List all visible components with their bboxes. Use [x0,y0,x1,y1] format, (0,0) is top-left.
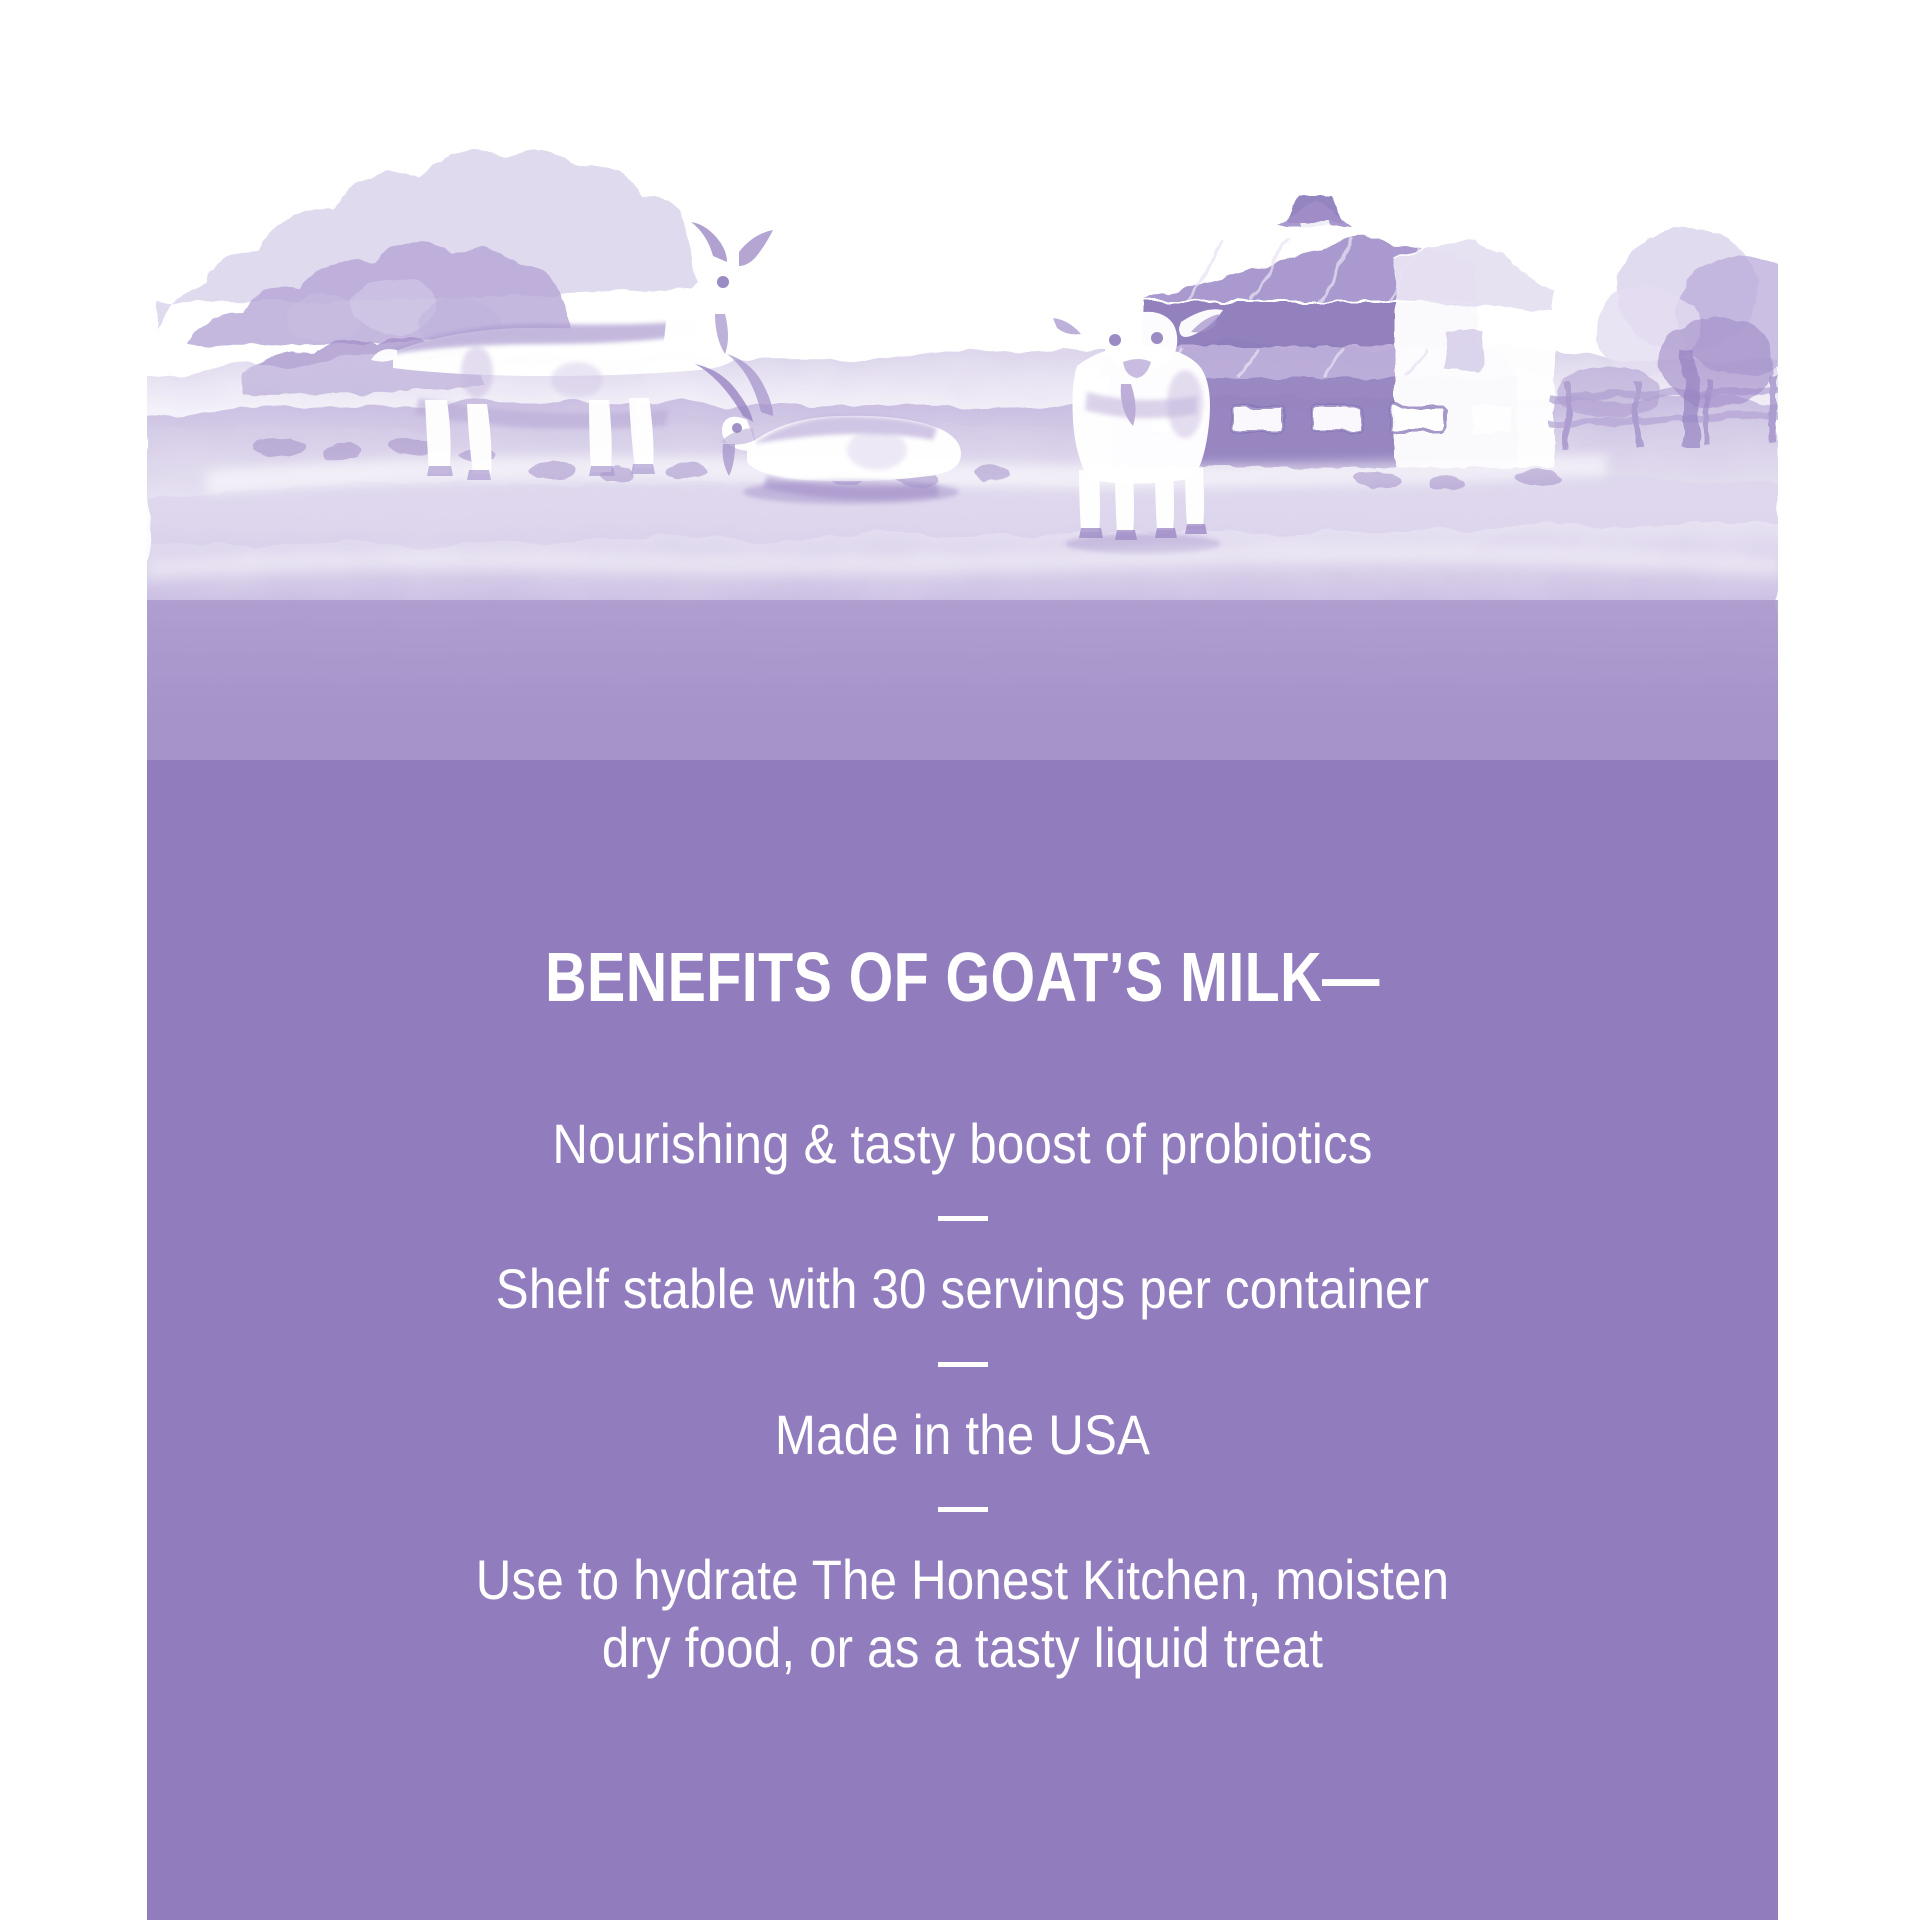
benefit-divider-2 [938,1362,988,1367]
benefits-panel: BENEFITS OF GOAT’S MILK— Nourishing & ta… [147,760,1778,1920]
benefits-copy: BENEFITS OF GOAT’S MILK— Nourishing & ta… [147,760,1778,1683]
content-column: BENEFITS OF GOAT’S MILK— Nourishing & ta… [147,0,1778,1920]
benefit-item-2: Shelf stable with 30 servings per contai… [245,1255,1680,1323]
benefit-divider-1 [938,1216,988,1221]
marketing-panel: BENEFITS OF GOAT’S MILK— Nourishing & ta… [0,0,1920,1920]
benefit-item-3: Made in the USA [245,1401,1680,1469]
benefit-divider-3 [938,1507,988,1512]
illustration-canvas [147,0,1778,800]
paper-grain [147,0,1778,800]
goat-farm-illustration [147,0,1778,800]
benefit-item-4: Use to hydrate The Honest Kitchen, moist… [245,1546,1680,1683]
page-title: BENEFITS OF GOAT’S MILK— [294,942,1631,1012]
benefit-item-1: Nourishing & tasty boost of probiotics [245,1110,1680,1178]
